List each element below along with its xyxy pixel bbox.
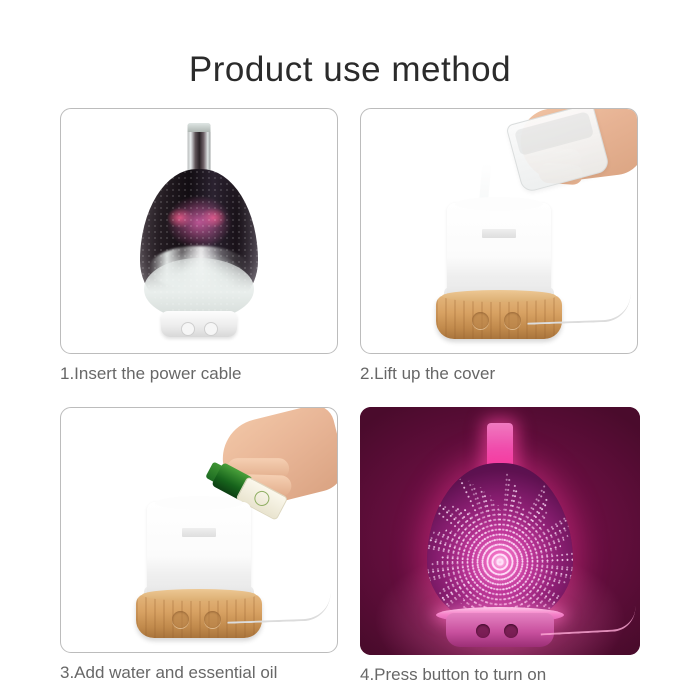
step-1-caption: 1.Insert the power cable: [60, 363, 340, 385]
vase-speckle-texture: [140, 169, 258, 317]
firework-starburst: [427, 463, 573, 627]
power-button-icon: [476, 624, 490, 638]
steps-row-bottom: 3.Add water and essential oil: [60, 407, 640, 686]
device-base-white: [161, 311, 237, 337]
device-base-lit: [446, 613, 554, 647]
vase-body-lit: [427, 463, 573, 627]
diffuser-unlit-illustration: [61, 109, 337, 353]
light-button-icon: [204, 611, 221, 628]
step-1-panel[interactable]: [60, 108, 338, 354]
reservoir-label: [182, 528, 216, 537]
step-2-caption: 2.Lift up the cover: [360, 363, 640, 385]
power-cable: [227, 592, 332, 624]
add-oil-illustration: [61, 408, 337, 652]
water-cup: [505, 108, 610, 193]
power-button-icon: [472, 312, 489, 329]
step-2-cell: 2.Lift up the cover: [360, 108, 640, 385]
step-2-panel[interactable]: [360, 108, 638, 354]
power-button-icon: [181, 322, 195, 336]
steps-grid: 1.Insert the power cable: [60, 108, 640, 686]
light-button-icon: [204, 322, 218, 336]
product-instruction-page: Product use method 1.Insert the: [0, 0, 700, 700]
page-title: Product use method: [0, 50, 700, 90]
light-button-icon: [504, 312, 521, 329]
step-3-cell: 3.Add water and essential oil: [60, 407, 340, 686]
pour-water-illustration: [361, 109, 637, 353]
reservoir-label: [482, 229, 516, 238]
step-4-caption: 4.Press button to turn on: [360, 664, 640, 686]
step-3-panel[interactable]: [60, 407, 338, 653]
step-1-cell: 1.Insert the power cable: [60, 108, 340, 385]
light-button-icon: [504, 624, 518, 638]
power-button-icon: [172, 611, 189, 628]
steps-row-top: 1.Insert the power cable: [60, 108, 640, 385]
power-cable: [527, 293, 632, 325]
power-cable: [539, 607, 636, 636]
diffuser-lit-illustration: [360, 407, 640, 655]
step-3-caption: 3.Add water and essential oil: [60, 662, 340, 684]
step-4-cell: 4.Press button to turn on: [360, 407, 640, 686]
step-4-panel[interactable]: [360, 407, 640, 655]
